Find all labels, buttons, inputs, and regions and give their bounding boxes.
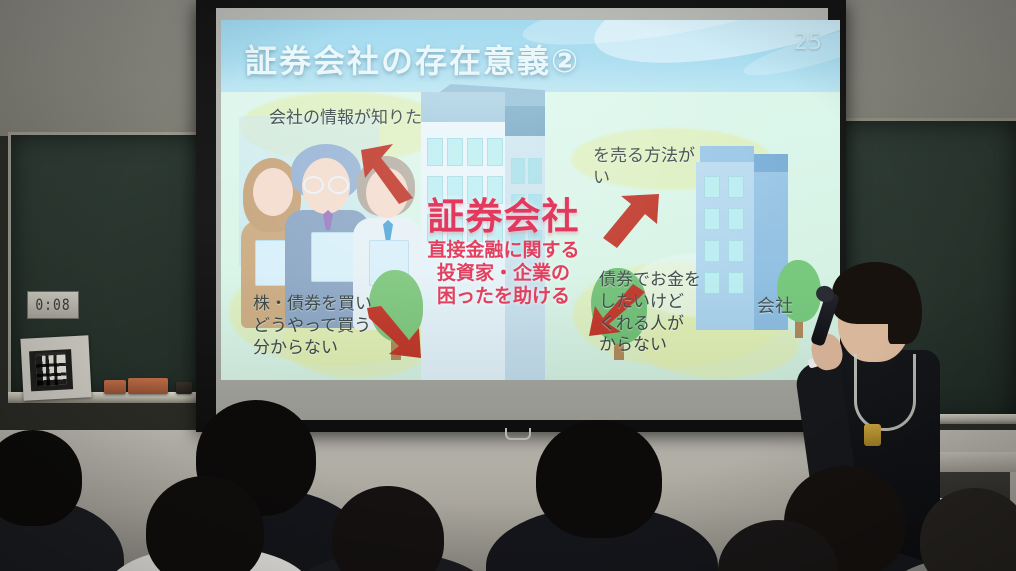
person-document — [311, 232, 355, 282]
classroom-scene: 0:08 証券会社の存在意義② 25 — [0, 0, 1016, 571]
callout-heading: 証券会社 — [416, 198, 591, 235]
clock-display: 0:08 — [35, 296, 70, 315]
qr-code-poster — [20, 335, 91, 400]
building-window — [728, 176, 744, 198]
building-window — [728, 208, 744, 230]
slide-label-top-right: を売る方法が い — [593, 146, 695, 190]
presenter-lanyard — [854, 354, 916, 431]
slide-label-bottom-left: 株・債券を買い どうやって買う 分からない — [253, 294, 372, 359]
building-roof-front — [421, 92, 505, 126]
slide-title: 証券会社の存在意義② — [245, 36, 580, 82]
building-window — [704, 208, 720, 230]
presenter-badge — [864, 424, 881, 446]
digital-clock-icon: 0:08 — [27, 291, 79, 319]
building-window — [528, 158, 542, 184]
slide-label-top-left: 会社の情報が知りた — [269, 108, 422, 130]
building-window — [511, 158, 525, 184]
building-window — [728, 240, 744, 262]
callout-line-2: 投資家・企業の — [416, 262, 591, 285]
slide-label-company: 会社 — [757, 295, 793, 318]
glasses-icon — [303, 176, 349, 190]
callout-line-3: 困ったを助ける — [416, 285, 591, 308]
building-window — [704, 272, 720, 294]
building-roof-side — [505, 106, 545, 138]
central-callout: 証券会社 直接金融に関する 投資家・企業の 困ったを助ける — [416, 198, 591, 309]
qr-poster-panel — [29, 349, 73, 391]
building-window — [728, 272, 744, 294]
presentation-slide: 証券会社の存在意義② 25 — [221, 20, 840, 380]
building-window — [704, 176, 720, 198]
chalk-eraser — [176, 382, 192, 394]
slide-label-bottom-right: 債券でお金を したいけど くれる人が からない — [599, 270, 701, 357]
audience-head — [536, 420, 662, 538]
building-window — [467, 138, 483, 166]
building-window — [487, 138, 503, 166]
person-head — [253, 168, 293, 216]
screen-hook-icon — [505, 428, 531, 440]
qr-code-icon — [35, 354, 67, 386]
building-roof-side — [754, 154, 788, 174]
presenter-hair-back — [888, 278, 922, 344]
callout-line-1: 直接金融に関する — [416, 239, 591, 262]
building-window — [427, 138, 443, 166]
building-window — [447, 138, 463, 166]
building-front-face — [696, 162, 754, 330]
building-window — [704, 240, 720, 262]
chalk-eraser — [128, 378, 168, 394]
chalk-eraser — [104, 380, 126, 394]
slide-number: 25 — [794, 30, 822, 55]
